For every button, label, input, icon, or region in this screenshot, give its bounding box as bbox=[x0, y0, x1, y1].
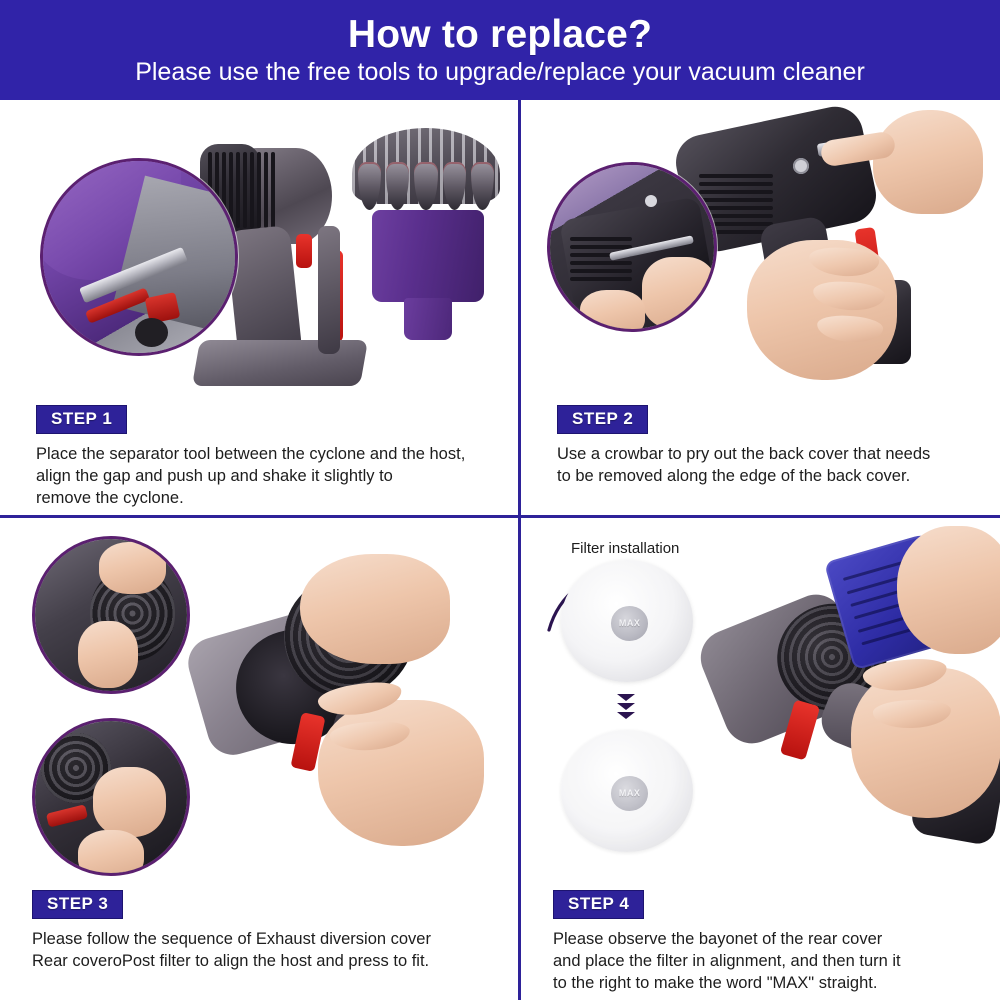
step-4-text: Please observe the bayonet of the rear c… bbox=[553, 929, 980, 995]
finger bbox=[78, 621, 139, 688]
step-4-illustration: Filter installation MAX MAX bbox=[521, 518, 1000, 888]
filter-hub-top: MAX bbox=[611, 606, 648, 640]
filter-installation-label: Filter installation bbox=[571, 540, 679, 557]
page-title: How to replace? bbox=[348, 15, 652, 54]
step-3-illustration bbox=[0, 518, 518, 888]
filter-hub-bottom: MAX bbox=[611, 776, 648, 810]
finger bbox=[93, 767, 166, 837]
step-3-text: Please follow the sequence of Exhaust di… bbox=[32, 929, 494, 973]
handle-strut bbox=[318, 226, 340, 354]
page-subtitle: Please use the free tools to upgrade/rep… bbox=[135, 60, 865, 85]
step-3-closeup-inset-top bbox=[32, 536, 190, 694]
step-1-illustration bbox=[0, 100, 518, 400]
finger bbox=[99, 542, 166, 594]
step-panel-1: STEP 1 Place the separator tool between … bbox=[0, 100, 518, 515]
step-3-badge: STEP 3 bbox=[32, 890, 123, 919]
tool-knob bbox=[135, 318, 168, 347]
cyclone-spout bbox=[404, 298, 452, 340]
cyclone-dust-bin bbox=[372, 210, 484, 302]
finger bbox=[580, 290, 646, 332]
step-4-badge: STEP 4 bbox=[553, 890, 644, 919]
trigger-button bbox=[296, 234, 312, 268]
step-2-badge: STEP 2 bbox=[557, 405, 648, 434]
step-4-caption: STEP 4 Please observe the bayonet of the… bbox=[553, 890, 980, 995]
hand-upper bbox=[300, 554, 450, 664]
hand-lower bbox=[851, 668, 1000, 818]
hand-upper bbox=[873, 110, 983, 214]
step-1-badge: STEP 1 bbox=[36, 405, 127, 434]
hand-lower bbox=[318, 700, 484, 846]
steps-grid: STEP 1 Place the separator tool between … bbox=[0, 100, 1000, 1000]
step-1-closeup-inset bbox=[40, 158, 238, 356]
filter-hub-top-label: MAX bbox=[619, 618, 641, 628]
filter-hub-bottom-label: MAX bbox=[619, 788, 641, 798]
step-panel-3: STEP 3 Please follow the sequence of Exh… bbox=[0, 518, 518, 1000]
vent-grille-icon bbox=[570, 237, 632, 281]
step-3-caption: STEP 3 Please follow the sequence of Exh… bbox=[32, 890, 494, 973]
step-2-illustration bbox=[521, 100, 1000, 400]
step-2-caption: STEP 2 Use a crowbar to pry out the back… bbox=[557, 405, 980, 488]
step-1-text: Place the separator tool between the cyc… bbox=[36, 444, 494, 510]
header-banner: How to replace? Please use the free tool… bbox=[0, 0, 1000, 100]
screw-icon bbox=[793, 158, 809, 174]
finger bbox=[642, 257, 717, 329]
step-panel-4: Filter installation MAX MAX bbox=[521, 518, 1000, 1000]
step-2-closeup-inset bbox=[547, 162, 717, 332]
filter-disc-top: MAX bbox=[561, 560, 693, 682]
step-panel-2: STEP 2 Use a crowbar to pry out the back… bbox=[521, 100, 1000, 515]
screw-icon bbox=[645, 195, 657, 207]
filter-disc-bottom: MAX bbox=[561, 730, 693, 852]
cyclone-cone-array bbox=[358, 162, 494, 210]
finger bbox=[78, 830, 145, 876]
step-1-caption: STEP 1 Place the separator tool between … bbox=[36, 405, 494, 510]
instruction-infographic: How to replace? Please use the free tool… bbox=[0, 0, 1000, 1000]
step-2-text: Use a crowbar to pry out the back cover … bbox=[557, 444, 980, 488]
downward-chevrons-icon bbox=[617, 694, 635, 719]
step-3-closeup-inset-bottom bbox=[32, 718, 190, 876]
